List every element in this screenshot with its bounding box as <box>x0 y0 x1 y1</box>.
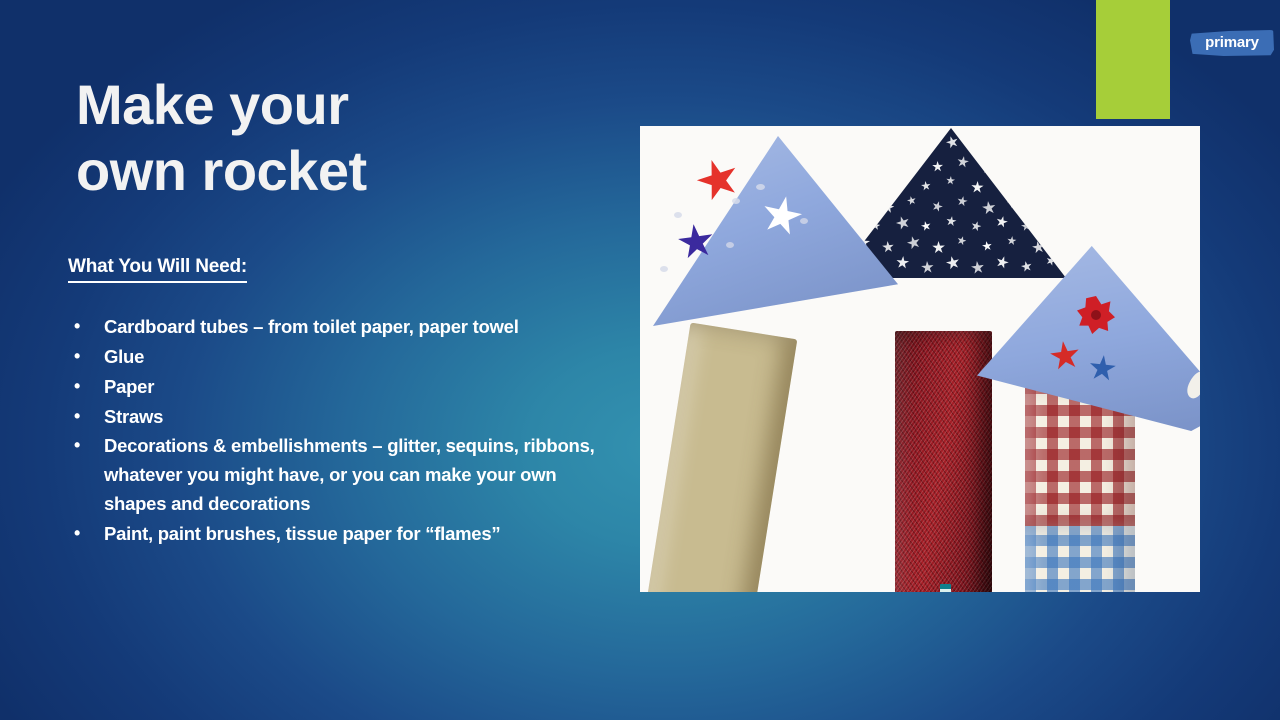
sequin-icon <box>732 198 740 204</box>
left-rocket-tube <box>644 323 798 592</box>
white-star-icon <box>920 180 931 191</box>
white-star-icon <box>1057 196 1070 209</box>
white-star-icon <box>920 140 935 155</box>
white-star-icon <box>932 241 945 254</box>
logo-text: primary <box>1190 30 1274 56</box>
page-title-line-2: own rocket <box>76 138 636 204</box>
page-title: Make your own rocket <box>76 72 636 204</box>
middle-rocket-tube <box>895 331 992 592</box>
white-star-icon <box>945 255 962 272</box>
flower-center-icon <box>1091 310 1101 320</box>
white-star-icon <box>931 200 945 214</box>
straw <box>940 584 951 592</box>
white-star-icon <box>870 220 881 231</box>
white-star-icon <box>845 135 856 146</box>
white-star-icon <box>1031 240 1046 255</box>
primary-logo: primary <box>1190 30 1274 56</box>
list-item: Paper <box>62 373 622 402</box>
white-star-icon <box>1021 141 1033 153</box>
green-accent-block <box>1096 0 1170 119</box>
white-star-icon <box>1045 215 1059 229</box>
white-star-icon <box>881 240 894 253</box>
white-star-icon <box>894 214 911 231</box>
white-star-icon <box>844 174 862 192</box>
white-star-icon <box>896 136 906 146</box>
rocket-photo <box>640 126 1200 592</box>
white-star-icon <box>971 181 984 194</box>
white-star-icon <box>906 195 917 206</box>
white-star-icon <box>981 160 997 176</box>
white-star-icon <box>921 261 935 275</box>
white-star-icon <box>856 155 867 166</box>
white-star-icon <box>1020 260 1033 273</box>
white-star-icon <box>970 260 985 275</box>
list-item: Paint, paint brushes, tissue paper for “… <box>62 520 622 549</box>
white-star-icon <box>1006 235 1017 246</box>
white-star-icon <box>1032 201 1045 214</box>
white-star-icon <box>895 255 909 269</box>
right-rocket-tube-blue-gingham <box>1025 526 1135 592</box>
white-star-icon <box>970 220 983 233</box>
page-title-line-1: Make your <box>76 72 636 138</box>
white-star-icon <box>956 155 970 169</box>
white-star-icon <box>1046 136 1057 147</box>
white-star-icon <box>881 200 895 214</box>
white-star-icon <box>994 134 1010 150</box>
white-star-icon <box>870 180 883 193</box>
sequin-icon <box>660 266 668 272</box>
sequin-icon <box>800 218 808 224</box>
white-star-icon <box>981 240 993 252</box>
white-star-icon <box>856 195 868 207</box>
materials-list: Cardboard tubes – from toilet paper, pap… <box>62 313 622 550</box>
white-star-icon <box>932 161 943 172</box>
rocket-photo-content <box>640 126 1200 592</box>
slide: primary Make your own rocket What You Wi… <box>0 0 1280 720</box>
white-star-icon <box>946 176 956 186</box>
white-star-icon <box>1020 220 1032 232</box>
white-star-icon <box>944 134 960 150</box>
white-star-icon <box>1045 175 1058 188</box>
white-star-icon <box>970 140 984 154</box>
white-star-icon <box>1006 155 1020 169</box>
sequin-icon <box>674 212 682 218</box>
white-star-icon <box>905 234 922 251</box>
white-star-icon <box>956 195 969 208</box>
white-star-icon <box>1020 180 1034 194</box>
white-star-icon <box>920 220 932 232</box>
white-star-icon <box>1056 155 1068 167</box>
white-star-icon <box>1045 255 1057 267</box>
white-star-icon <box>1031 160 1042 171</box>
white-star-icon <box>994 174 1010 190</box>
white-star-icon <box>869 139 886 156</box>
list-item: Cardboard tubes – from toilet paper, pap… <box>62 313 622 342</box>
white-star-icon <box>906 155 917 166</box>
list-item: Glue <box>62 343 622 372</box>
materials-heading: What You Will Need: <box>68 256 247 283</box>
white-star-icon <box>995 215 1009 229</box>
white-star-icon <box>895 175 906 186</box>
list-item: Decorations & embellishments – glitter, … <box>62 432 622 519</box>
white-star-icon <box>881 160 895 174</box>
white-star-icon <box>994 254 1010 270</box>
white-star-icon <box>981 200 997 216</box>
list-item: Straws <box>62 403 622 432</box>
sequin-icon <box>756 184 765 190</box>
white-star-icon <box>1006 195 1021 210</box>
left-rocket-cone-shading <box>648 136 898 326</box>
sequin-icon <box>726 242 734 248</box>
white-star-icon <box>956 235 968 247</box>
white-star-icon <box>945 215 957 227</box>
white-star-icon <box>1056 235 1071 250</box>
